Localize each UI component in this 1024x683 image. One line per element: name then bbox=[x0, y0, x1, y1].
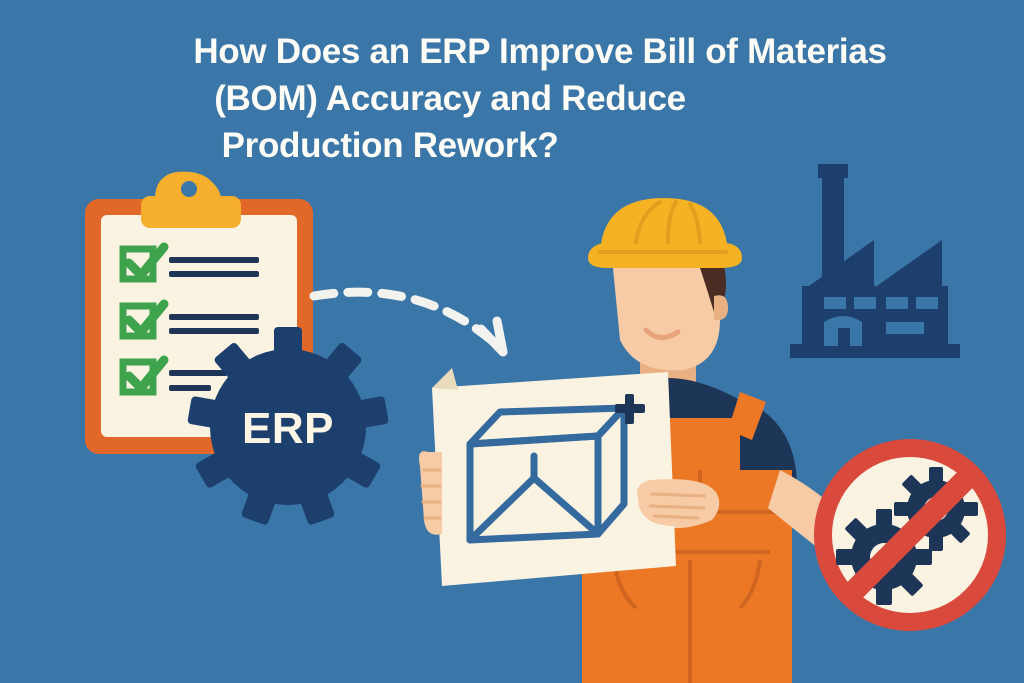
illustration-canvas: How Does an ERP Improve Bill of Materias… bbox=[0, 0, 1024, 683]
no-rework-prohibition-sign bbox=[0, 0, 1024, 683]
